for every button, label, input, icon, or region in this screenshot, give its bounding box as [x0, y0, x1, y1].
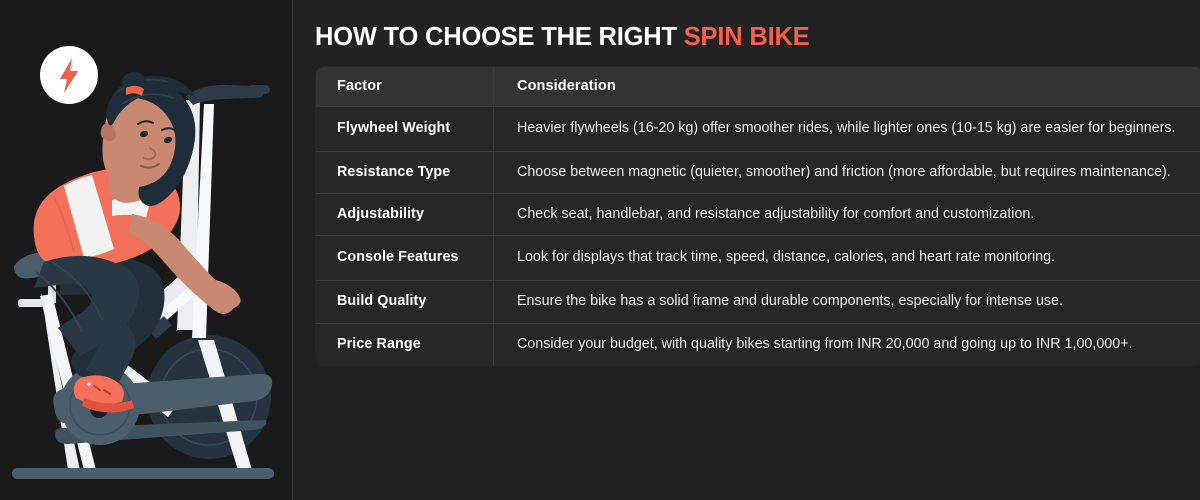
page-title-accent: SPIN BIKE [684, 23, 810, 51]
content-panel: HOW TO CHOOSE THE RIGHT SPIN BIKE Factor… [293, 0, 1200, 500]
table-header-row: Factor Consideration [316, 66, 1200, 106]
cell-consideration: Consider your budget, with quality bikes… [494, 323, 1200, 365]
cell-consideration: Choose between magnetic (quieter, smooth… [494, 151, 1200, 193]
cell-factor: Resistance Type [316, 151, 494, 193]
page-title: HOW TO CHOOSE THE RIGHT SPIN BIKE [315, 24, 1200, 51]
cell-factor: Build Quality [316, 281, 494, 323]
bike-base-bar [12, 468, 274, 479]
lightning-bolt-badge [40, 46, 98, 104]
table-row: Adjustability Check seat, handlebar, and… [316, 194, 1200, 236]
table-row: Flywheel Weight Heavier flywheels (16-20… [316, 106, 1200, 151]
cell-consideration: Check seat, handlebar, and resistance ad… [494, 194, 1200, 236]
cell-factor: Flywheel Weight [316, 106, 494, 151]
column-header-consideration: Consideration [494, 66, 1200, 106]
table-row: Resistance Type Choose between magnetic … [316, 151, 1200, 193]
cell-consideration: Ensure the bike has a solid frame and du… [494, 281, 1200, 323]
woman-riding-spin-bike-illustration [0, 0, 293, 500]
cell-factor: Console Features [316, 236, 494, 281]
cell-consideration: Heavier flywheels (16-20 kg) offer smoot… [494, 106, 1200, 151]
table-row: Price Range Consider your budget, with q… [316, 323, 1200, 365]
cell-factor: Price Range [316, 323, 494, 365]
table-body: Flywheel Weight Heavier flywheels (16-20… [316, 106, 1200, 365]
illustration-panel [0, 0, 293, 500]
table-row: Build Quality Ensure the bike has a soli… [316, 281, 1200, 323]
table-row: Console Features Look for displays that … [316, 236, 1200, 281]
table-header: Factor Consideration [316, 66, 1200, 106]
cell-consideration: Look for displays that track time, speed… [494, 236, 1200, 281]
spin-bike-buying-guide-table: Factor Consideration Flywheel Weight Hea… [315, 66, 1200, 366]
infographic-page: HOW TO CHOOSE THE RIGHT SPIN BIKE Factor… [0, 0, 1200, 500]
column-header-factor: Factor [316, 66, 494, 106]
page-title-main: HOW TO CHOOSE THE RIGHT [315, 23, 684, 51]
resistance-knob-icon [18, 299, 44, 307]
cell-factor: Adjustability [316, 194, 494, 236]
